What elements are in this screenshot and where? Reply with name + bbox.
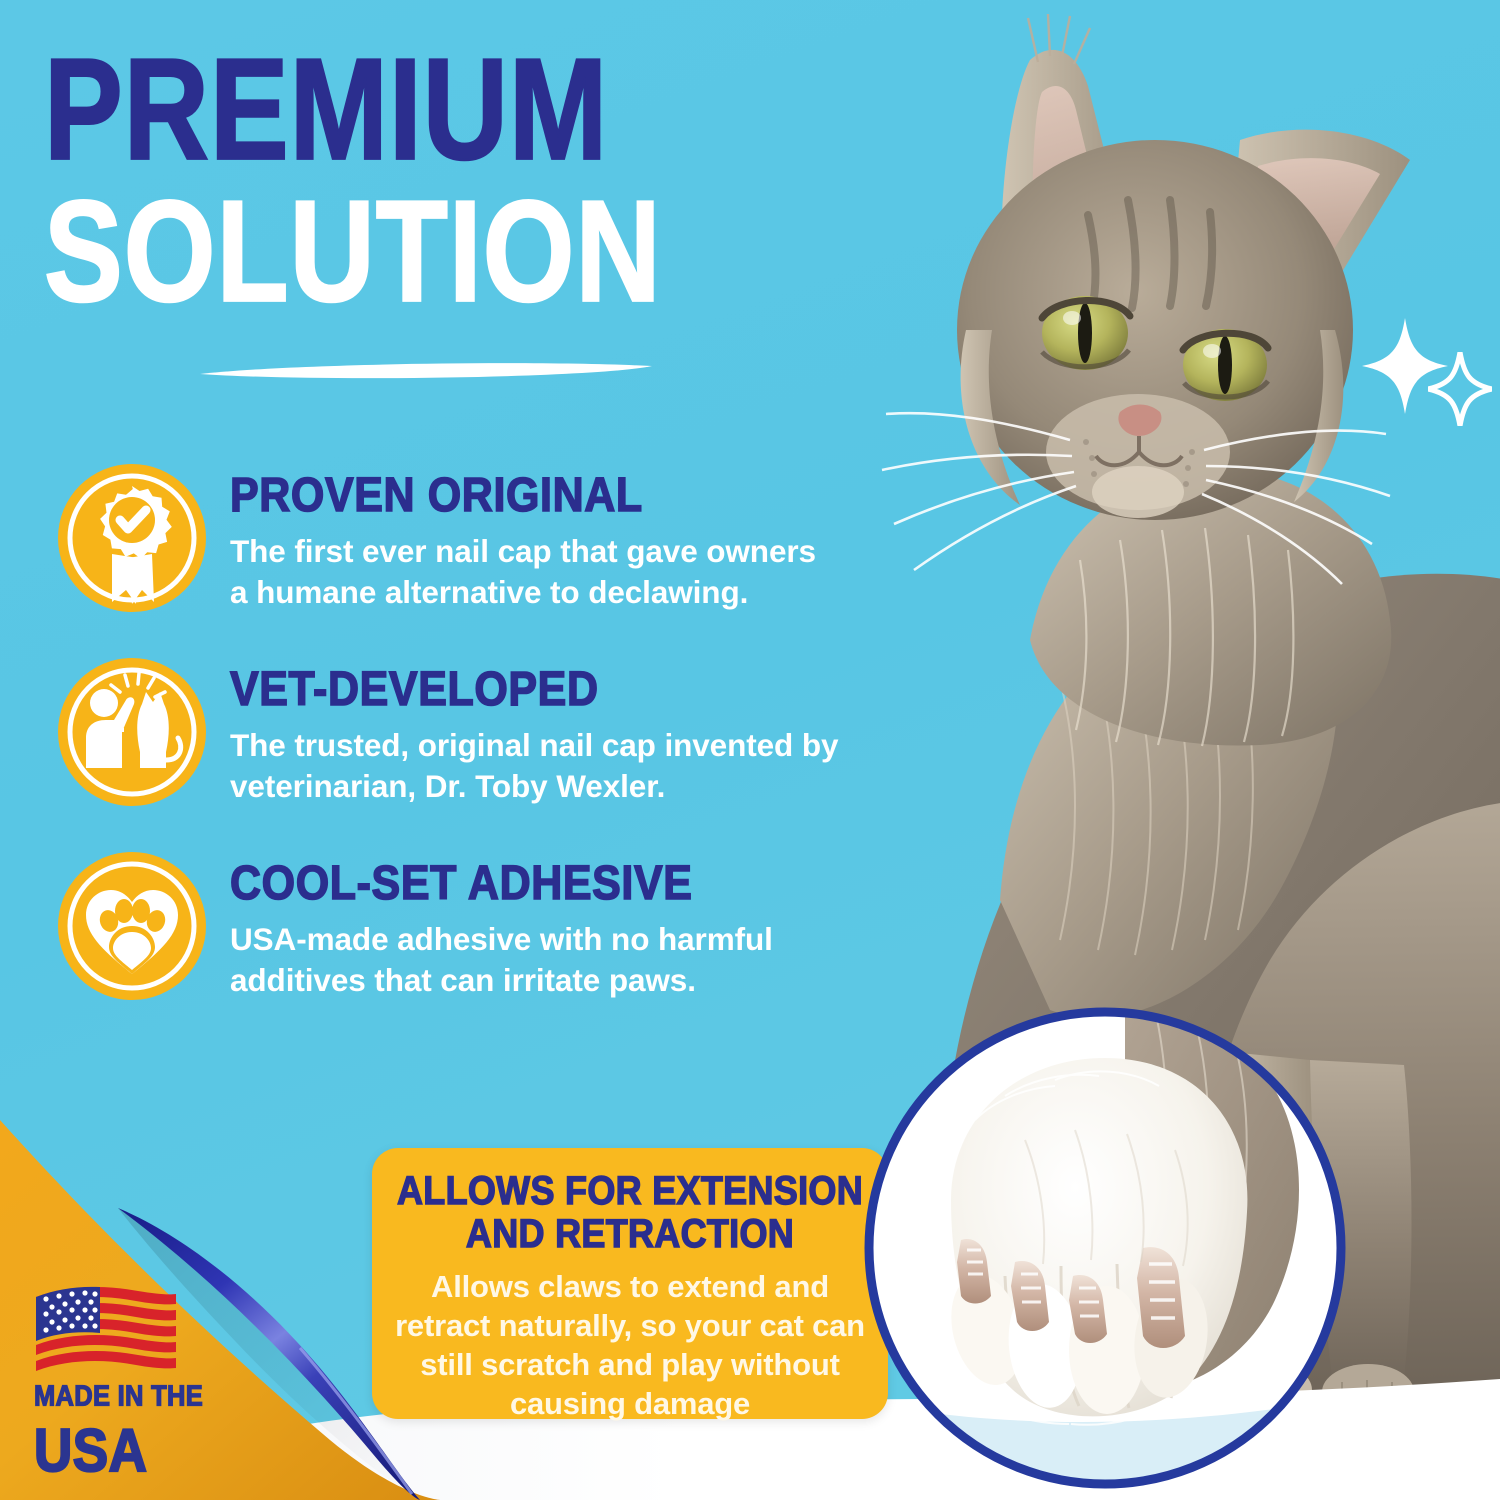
- made-in-usa-badge: MADE IN THE USA: [34, 1283, 239, 1474]
- product-infographic: PREMIUM SOLUTION P: [0, 0, 1500, 1500]
- feature-proven-original: PROVEN ORIGINAL The first ever nail cap …: [56, 462, 856, 614]
- headline-line1: PREMIUM: [44, 44, 864, 176]
- feature-description: The first ever nail cap that gave owners…: [230, 531, 830, 613]
- cat-paw-with-nail-caps-photo: [855, 1000, 1355, 1496]
- usa-flag-icon: [34, 1283, 178, 1375]
- made-in-usa-line2: USA: [34, 1421, 239, 1481]
- feature-cool-set-adhesive: COOL-SET ADHESIVE USA-made adhesive with…: [56, 850, 856, 1002]
- award-ribbon-icon: [56, 462, 208, 614]
- feature-vet-developed: VET-DEVELOPED The trusted, original nail…: [56, 656, 856, 808]
- feature-list: PROVEN ORIGINAL The first ever nail cap …: [56, 462, 856, 1002]
- swoosh-divider: [196, 358, 656, 384]
- callout-title: ALLOWS FOR EXTENSION AND RETRACTION: [390, 1170, 870, 1255]
- feature-description: USA-made adhesive with no harmful additi…: [230, 919, 850, 1001]
- heart-paw-icon: [56, 850, 208, 1002]
- feature-title: VET-DEVELOPED: [230, 666, 856, 714]
- feature-description: The trusted, original nail cap invented …: [230, 725, 850, 807]
- extension-retraction-callout: ALLOWS FOR EXTENSION AND RETRACTION Allo…: [372, 1148, 888, 1419]
- headline: PREMIUM SOLUTION: [44, 44, 864, 294]
- sparkle-small-icon: [1428, 352, 1492, 426]
- vet-high-five-cat-icon: [56, 656, 208, 808]
- callout-description: Allows claws to extend and retract natur…: [390, 1267, 870, 1423]
- made-in-usa-line1: MADE IN THE: [34, 1383, 239, 1412]
- feature-title: PROVEN ORIGINAL: [230, 472, 856, 520]
- headline-line2: SOLUTION: [44, 186, 864, 318]
- feature-title: COOL-SET ADHESIVE: [230, 860, 856, 908]
